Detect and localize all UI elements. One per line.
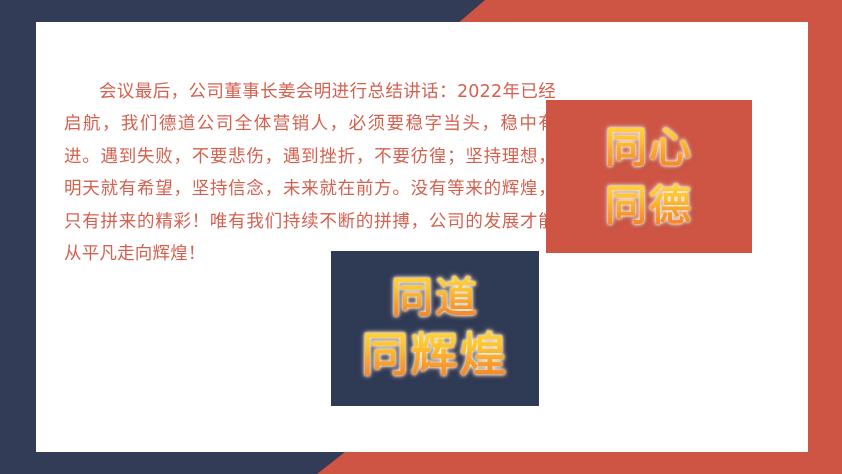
decor-top-orange-band bbox=[0, 0, 842, 24]
callout-unity-line2: 同德 bbox=[605, 180, 693, 231]
decor-right-orange-band bbox=[808, 0, 842, 474]
slide-canvas: 会议最后，公司董事长姜会明进行总结讲话：2022年已经启航，我们德道公司全体营销… bbox=[0, 0, 842, 474]
callout-path-line2: 同辉煌 bbox=[362, 327, 509, 384]
callout-path-line1: 同道 bbox=[391, 272, 479, 323]
summary-paragraph: 会议最后，公司董事长姜会明进行总结讲话：2022年已经启航，我们德道公司全体营销… bbox=[64, 76, 556, 271]
callout-unity: 同心 同德 bbox=[546, 100, 752, 253]
callout-unity-line1: 同心 bbox=[605, 122, 693, 173]
callout-path: 同道 同辉煌 bbox=[331, 251, 539, 406]
decor-bottom-orange-band bbox=[0, 452, 842, 474]
